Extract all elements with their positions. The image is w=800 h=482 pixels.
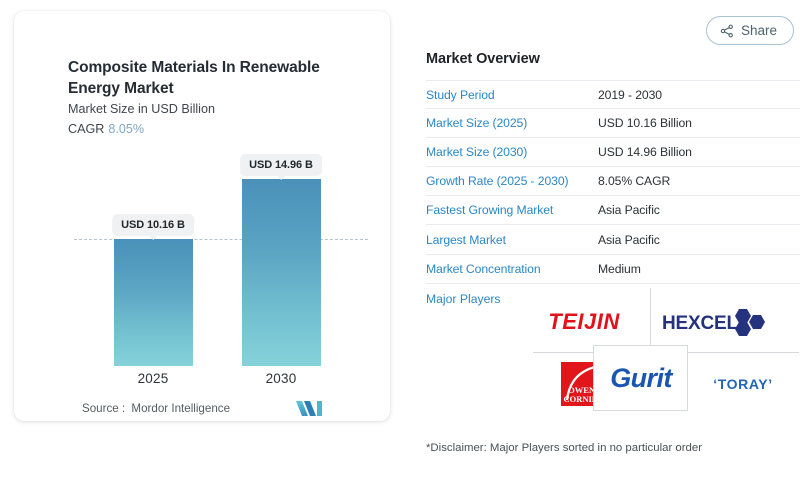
- svg-text:HEXCEL: HEXCEL: [662, 313, 738, 334]
- table-row: Market Size (2025) USD 10.16 Billion: [426, 109, 800, 138]
- share-button[interactable]: Share: [706, 16, 794, 45]
- chart-title: Composite Materials In Renewable Energy …: [68, 57, 368, 99]
- table-row: Market Concentration Medium: [426, 255, 800, 284]
- major-players-grid: TEIJIN HEXCEL OWE: [521, 288, 799, 416]
- row-value: Asia Pacific: [598, 233, 660, 247]
- page-title: Market Overview: [426, 51, 540, 67]
- chart-source: Source : Mordor Intelligence: [82, 402, 230, 415]
- table-row: Growth Rate (2025 - 2030) 8.05% CAGR: [426, 167, 800, 196]
- table-row: Study Period 2019 - 2030: [426, 80, 800, 109]
- cagr-value: 8.05%: [108, 122, 144, 136]
- row-key: Fastest Growing Market: [426, 203, 598, 217]
- row-value: 8.05% CAGR: [598, 174, 670, 188]
- row-key: Growth Rate (2025 - 2030): [426, 174, 598, 188]
- chart-card: Composite Materials In Renewable Energy …: [14, 11, 390, 421]
- chart-cagr: CAGR8.05%: [68, 122, 144, 136]
- row-key: Market Concentration: [426, 262, 598, 276]
- bar-2030[interactable]: [242, 179, 321, 366]
- player-logo-hexcel: HEXCEL: [657, 300, 787, 344]
- player-logo-gurit: Gurit: [593, 345, 688, 411]
- row-key: Largest Market: [426, 233, 598, 247]
- chart-subtitle: Market Size in USD Billion: [68, 102, 215, 116]
- svg-text:‘TORAY’: ‘TORAY’: [713, 376, 772, 392]
- bar-label-2030: USD 14.96 B: [240, 154, 322, 176]
- row-key: Study Period: [426, 88, 598, 102]
- table-row: Largest Market Asia Pacific: [426, 225, 800, 254]
- table-row: Market Size (2030) USD 14.96 Billion: [426, 138, 800, 167]
- player-logo-toray: ‘TORAY’: [693, 360, 793, 408]
- row-key: Market Size (2025): [426, 116, 598, 130]
- bar-chart-plot: USD 10.16 B USD 14.96 B 2025 2030: [60, 151, 360, 366]
- svg-text:Gurit: Gurit: [610, 363, 673, 393]
- row-value: Asia Pacific: [598, 203, 660, 217]
- share-label: Share: [741, 23, 777, 38]
- svg-text:TEIJIN: TEIJIN: [548, 309, 620, 334]
- row-value: Medium: [598, 262, 641, 276]
- market-overview-table: Study Period 2019 - 2030 Market Size (20…: [426, 80, 800, 284]
- major-players-label: Major Players: [426, 292, 501, 306]
- row-value: 2019 - 2030: [598, 88, 662, 102]
- row-value: USD 14.96 Billion: [598, 145, 692, 159]
- table-row: Fastest Growing Market Asia Pacific: [426, 196, 800, 225]
- x-tick-2025: 2025: [138, 371, 169, 386]
- cagr-label: CAGR: [68, 122, 104, 136]
- bar-2025[interactable]: [114, 239, 193, 366]
- player-logo-teijin: TEIJIN: [523, 300, 645, 344]
- report-infographic: Composite Materials In Renewable Energy …: [0, 0, 800, 482]
- market-overview-panel: Share Market Overview Study Period 2019 …: [411, 0, 800, 482]
- disclaimer-text: *Disclaimer: Major Players sorted in no …: [426, 442, 702, 454]
- grid-divider-vertical: [650, 288, 651, 352]
- bar-label-2025: USD 10.16 B: [112, 214, 194, 236]
- source-name: Mordor Intelligence: [131, 402, 230, 415]
- row-key: Market Size (2030): [426, 145, 598, 159]
- share-icon: [720, 24, 734, 38]
- source-label: Source :: [82, 402, 125, 415]
- mordor-intelligence-logo: [295, 399, 325, 418]
- row-value: USD 10.16 Billion: [598, 116, 692, 130]
- x-tick-2030: 2030: [266, 371, 297, 386]
